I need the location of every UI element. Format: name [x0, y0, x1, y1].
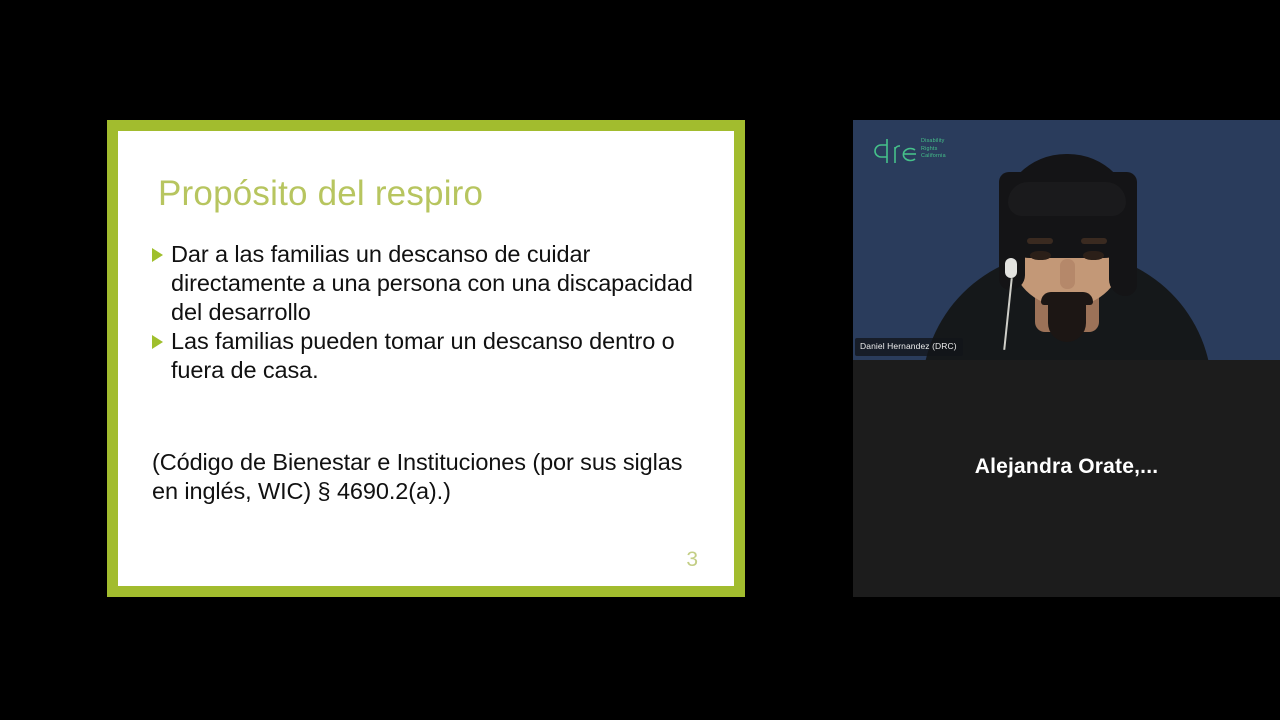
participant-name-label: Alejandra Orate,... — [853, 455, 1280, 479]
slide-content-area: Propósito del respiro Dar a las familias… — [118, 131, 734, 586]
drc-word-line-1: Disability — [921, 138, 946, 146]
bullet-item: Las familias pueden tomar un descanso de… — [152, 327, 700, 385]
bullet-item: Dar a las familias un descanso de cuidar… — [152, 240, 700, 327]
screen-canvas: Propósito del respiro Dar a las familias… — [0, 0, 1280, 720]
video-participants-panel: Disability Rights California Daniel Hern… — [853, 120, 1280, 597]
participant-goatee — [1048, 300, 1086, 342]
presentation-slide: Propósito del respiro Dar a las familias… — [107, 120, 745, 597]
bullet-text: Dar a las familias un descanso de cuidar… — [171, 241, 693, 325]
participant-tile-secondary[interactable]: Alejandra Orate,... — [853, 360, 1280, 597]
participant-eyebrow-left — [1027, 238, 1053, 244]
triangle-bullet-icon — [152, 248, 163, 262]
slide-page-number: 3 — [686, 548, 698, 572]
drc-word-line-3: California — [921, 153, 946, 161]
participant-name-label: Daniel Hernandez (DRC) — [855, 338, 963, 356]
participant-eye-right — [1083, 251, 1104, 260]
earbud-icon — [1005, 258, 1017, 278]
drc-word-line-2: Rights — [921, 146, 946, 154]
participant-tile-speaker[interactable]: Disability Rights California Daniel Hern… — [853, 120, 1280, 360]
slide-citation: (Código de Bienestar e Instituciones (po… — [152, 448, 700, 506]
slide-title: Propósito del respiro — [158, 175, 700, 214]
bullet-text: Las familias pueden tomar un descanso de… — [171, 328, 675, 383]
slide-bullet-list: Dar a las familias un descanso de cuidar… — [152, 240, 700, 385]
drc-logomark-icon — [873, 136, 919, 166]
participant-eyebrow-right — [1081, 238, 1107, 244]
drc-logo: Disability Rights California — [873, 136, 959, 168]
participant-hair-fringe — [1008, 182, 1126, 216]
participant-nose — [1060, 259, 1075, 289]
drc-logo-wordmark: Disability Rights California — [921, 138, 946, 161]
participant-eye-left — [1030, 251, 1051, 260]
triangle-bullet-icon — [152, 335, 163, 349]
